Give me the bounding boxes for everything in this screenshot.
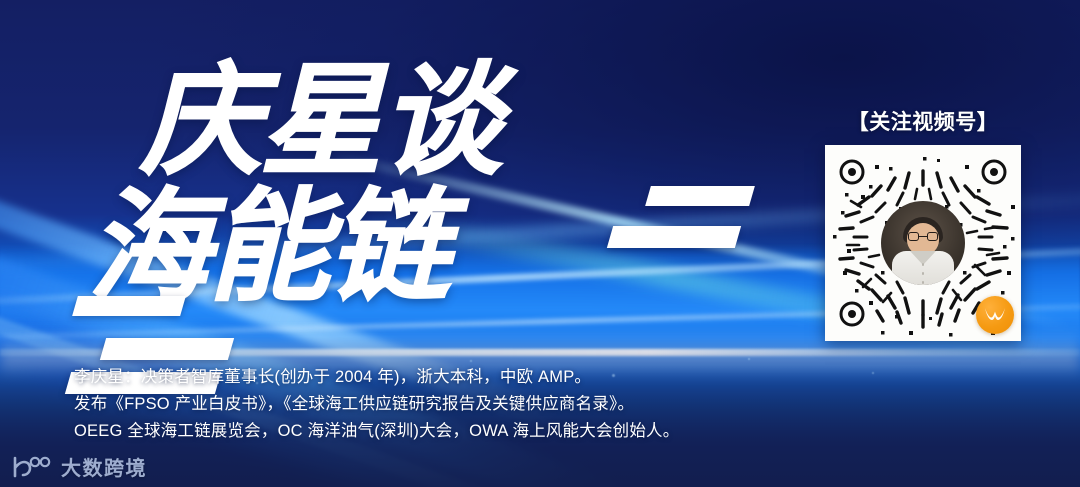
bio-line: OEEG 全球海工链展览会，OC 海洋油气(深圳)大会，OWA 海上风能大会创始… (74, 418, 774, 445)
avatar-button (922, 272, 925, 275)
decorative-dash (72, 296, 186, 316)
glasses-icon (908, 232, 938, 241)
promo-banner: 庆星谈 海能链 【关注视频号】 (0, 0, 1080, 487)
headline-group: 庆星谈 海能链 (0, 48, 790, 344)
bokeh-dot (872, 372, 874, 374)
avatar-button (922, 263, 925, 266)
decorative-dash (100, 338, 234, 360)
headline-line-1: 庆星谈 (140, 60, 500, 182)
avatar (881, 201, 965, 285)
watermark: 大数跨境 (8, 452, 147, 481)
wechat-channels-qr-code[interactable] (825, 145, 1021, 341)
bio-text-block: 李庆星：决策者智库董事长(创办于 2004 年)，浙大本科，中欧 AMP。 发布… (74, 364, 774, 445)
bio-line: 发布《FPSO 产业白皮书》，《全球海工供应链研究报告及关键供应商名录》。 (74, 391, 774, 418)
wechat-channels-icon (976, 296, 1014, 334)
qr-label: 【关注视频号】 (824, 106, 1022, 136)
channels-glyph-icon (982, 305, 1008, 325)
decorative-dash (607, 226, 741, 248)
dashu-kuajing-logo-icon (8, 454, 52, 480)
watermark-text: 大数跨境 (61, 452, 147, 481)
bokeh-dot (748, 358, 750, 360)
bokeh-dot (470, 360, 472, 362)
avatar-button (922, 281, 925, 284)
decorative-dash (645, 186, 755, 206)
bio-line: 李庆星：决策者智库董事长(创办于 2004 年)，浙大本科，中欧 AMP。 (74, 364, 774, 391)
headline-line-2: 海能链 (88, 186, 448, 308)
qr-block: 【关注视频号】 (824, 106, 1022, 341)
